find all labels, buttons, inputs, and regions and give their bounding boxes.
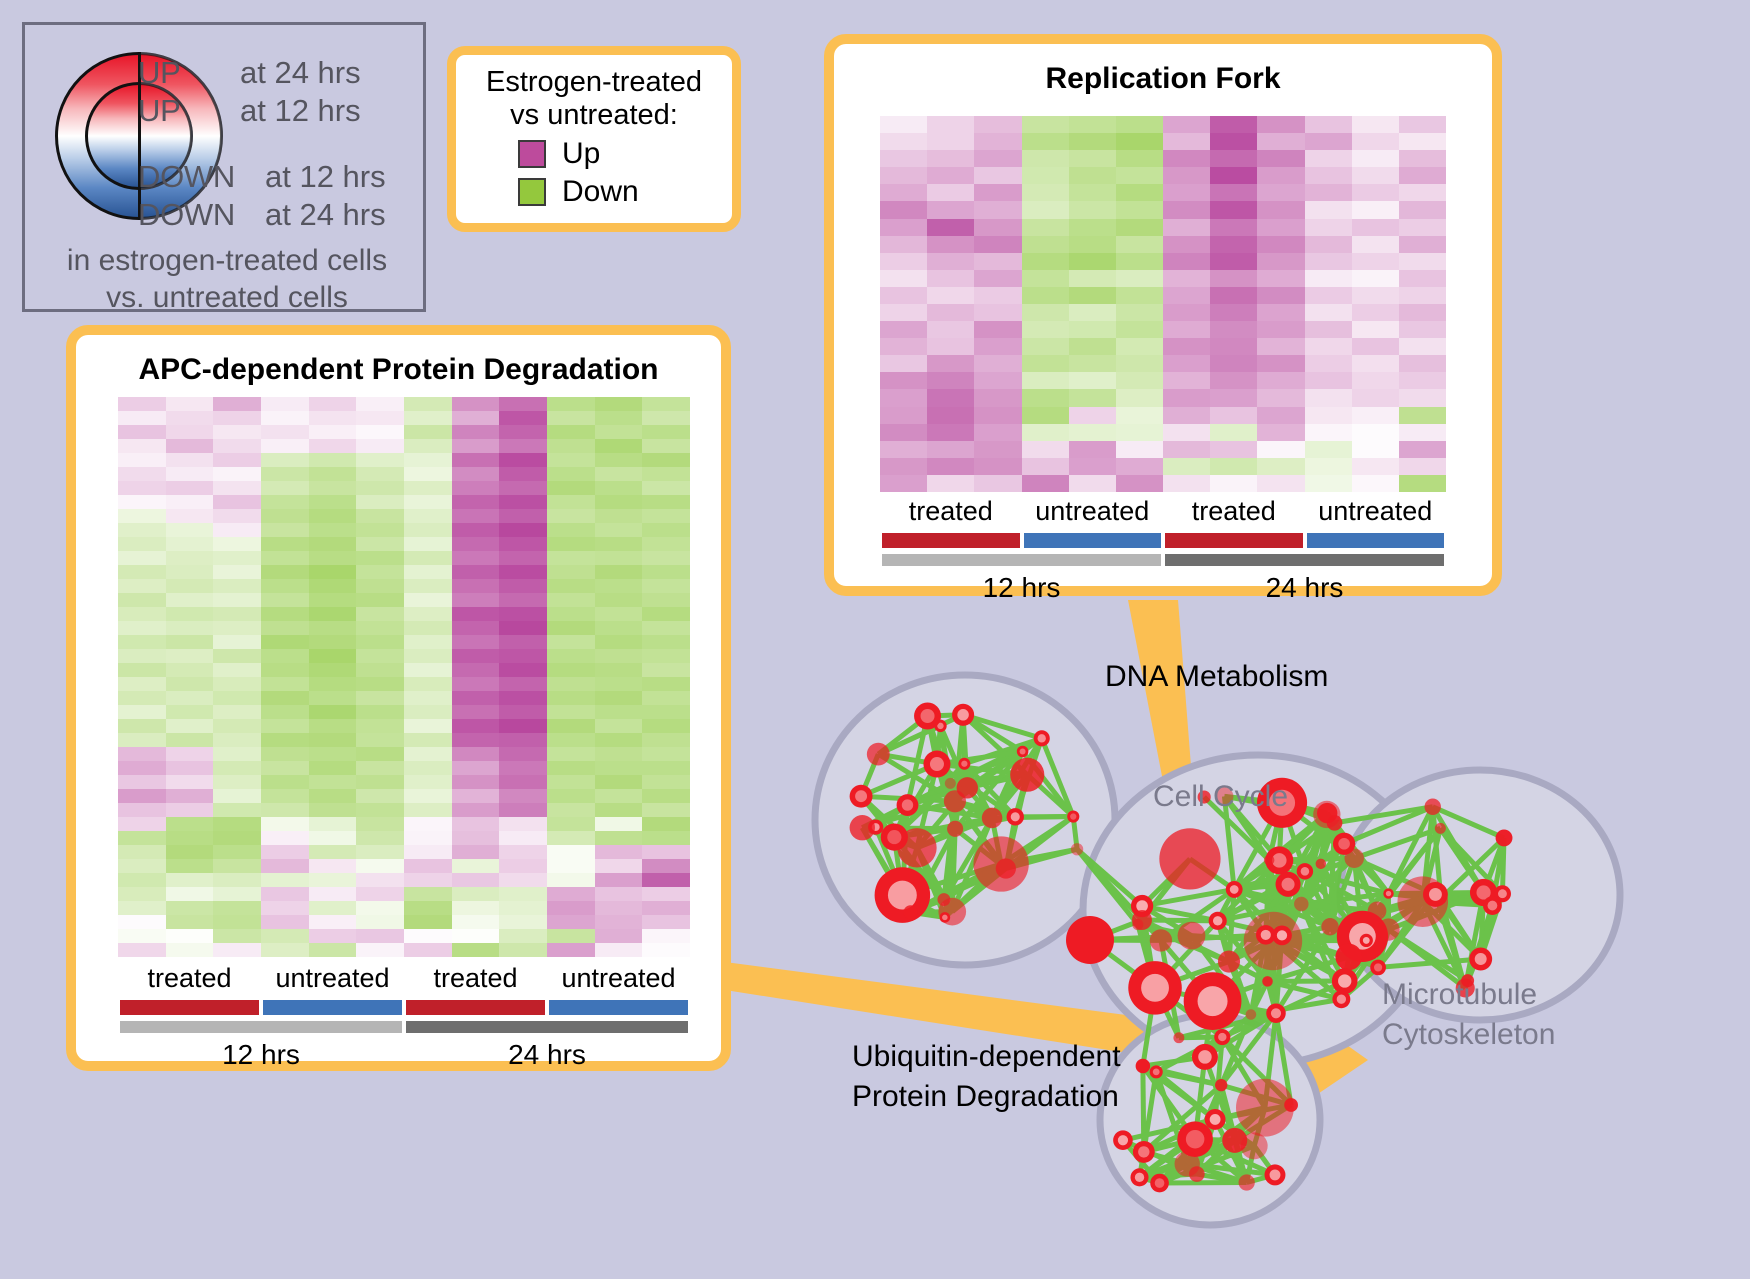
heatmap-cell [452, 733, 500, 747]
heatmap-cell [595, 691, 643, 705]
time-label: 24 hrs [1266, 572, 1344, 604]
heatmap-cell [356, 873, 404, 887]
heatmap-cell [1352, 321, 1399, 338]
heatmap-cell [927, 219, 974, 236]
network-node-core [1198, 1050, 1212, 1064]
heatmap-cell [166, 453, 214, 467]
heatmap-cell [1069, 133, 1116, 150]
heatmap-cell [499, 607, 547, 621]
heatmap-cell [1210, 458, 1257, 475]
heatmap-cell [547, 817, 595, 831]
heatmap-cell [1163, 441, 1210, 458]
heatmap-cell [213, 719, 261, 733]
heatmap-cell [118, 901, 166, 915]
heatmap-cell [213, 537, 261, 551]
heatmap-cell [213, 845, 261, 859]
heatmap-cell [309, 859, 357, 873]
network-node-core [921, 709, 935, 723]
heatmap-cell [404, 915, 452, 929]
heatmap-cell [404, 789, 452, 803]
heatmap-cell [356, 803, 404, 817]
heatmap-cell [261, 523, 309, 537]
network-node[interactable] [1317, 803, 1337, 823]
heatmap-cell [118, 873, 166, 887]
group-color-bar [263, 1000, 402, 1015]
network-node[interactable] [947, 821, 963, 837]
heatmap-cell [642, 565, 690, 579]
heatmap-cell [452, 509, 500, 523]
heatmap-cell [880, 407, 927, 424]
heatmap-cell [261, 943, 309, 957]
heatmap-cell [642, 663, 690, 677]
heatmap-cell [642, 719, 690, 733]
heatmap-cell [1305, 458, 1352, 475]
heatmap-cell [261, 411, 309, 425]
heatmap-cell [213, 873, 261, 887]
group-label: untreated [275, 963, 389, 994]
heatmap-cell [880, 270, 927, 287]
heatmap-cell [595, 705, 643, 719]
heatmap-cell [595, 467, 643, 481]
heatmap-cell [927, 441, 974, 458]
heatmap-cell [261, 537, 309, 551]
group-label: untreated [1318, 496, 1432, 527]
heatmap-cell [118, 495, 166, 509]
heatmap-cell [1305, 389, 1352, 406]
network-node[interactable] [982, 808, 1003, 829]
heatmap-cell [356, 719, 404, 733]
heatmap-cell [1210, 441, 1257, 458]
network-node[interactable] [904, 905, 918, 919]
network-node-core [1429, 888, 1442, 901]
heatmap-cell [974, 407, 1021, 424]
heatmap-cell [974, 201, 1021, 218]
heatmap-cell [499, 873, 547, 887]
heatmap-cell [452, 775, 500, 789]
heatmap-cell [499, 565, 547, 579]
heatmap-cell [118, 425, 166, 439]
heatmap-cell [880, 304, 927, 321]
network-node[interactable] [1239, 1174, 1255, 1190]
heatmap-cell [118, 551, 166, 565]
network-node[interactable] [1368, 902, 1387, 921]
heatmap-cell [1022, 475, 1069, 492]
heatmap-cell [452, 551, 500, 565]
heatmap-cell [1163, 184, 1210, 201]
network-node[interactable] [1222, 1128, 1247, 1153]
heatmap-cell [309, 915, 357, 929]
heatmap-cell [452, 537, 500, 551]
network-node-core [1488, 901, 1498, 911]
heatmap-cell [213, 425, 261, 439]
heatmap-cell [404, 873, 452, 887]
heatmap-cell [309, 677, 357, 691]
heatmap-cell [118, 453, 166, 467]
heatmap-cell [309, 775, 357, 789]
heatmap-cell [1305, 116, 1352, 133]
heatmap-cell [1352, 150, 1399, 167]
heatmap-cell [880, 219, 927, 236]
network-node[interactable] [1218, 950, 1240, 972]
heatmap-cell [880, 441, 927, 458]
heatmap-cell [499, 705, 547, 719]
heatmap-cell [595, 453, 643, 467]
heatmap-cell [452, 761, 500, 775]
heatmap-cell [1352, 201, 1399, 218]
heatmap-cell [213, 901, 261, 915]
heatmap-cell [356, 495, 404, 509]
network-node[interactable] [1071, 843, 1083, 855]
heatmap-cell [356, 593, 404, 607]
heatmap-cell [499, 789, 547, 803]
heatmap-cell [1210, 304, 1257, 321]
network-node-core [961, 761, 967, 767]
heatmap-cell [499, 719, 547, 733]
heatmap-cell [499, 649, 547, 663]
network-node[interactable] [945, 778, 956, 789]
network-node-core [1020, 749, 1026, 755]
network-node-core [1070, 813, 1076, 819]
heatmap-cell [309, 719, 357, 733]
network-node[interactable] [1264, 855, 1275, 866]
heatmap-cell [595, 439, 643, 453]
network-node-core [1213, 916, 1222, 925]
heatmap-cell [404, 467, 452, 481]
heatmap-cell [1399, 253, 1446, 270]
heatmap-cell [1352, 424, 1399, 441]
heatmap-cell [1022, 458, 1069, 475]
heatmap-cell [452, 663, 500, 677]
group-color-bar [1307, 533, 1445, 548]
heatmap-cell [309, 425, 357, 439]
heatmap-cell [974, 236, 1021, 253]
heatmap-cell [547, 677, 595, 691]
heatmap-cell [404, 607, 452, 621]
network-node[interactable] [1321, 918, 1338, 935]
network-node[interactable] [1284, 1098, 1298, 1112]
heatmap-cell [1022, 424, 1069, 441]
heatmap-cell [261, 551, 309, 565]
heatmap-cell [974, 389, 1021, 406]
heatmap-cell [1210, 407, 1257, 424]
heatmap-cell [499, 621, 547, 635]
heatmap-cell [1022, 304, 1069, 321]
network-node-core [1277, 930, 1287, 940]
heatmap-cell [595, 607, 643, 621]
heatmap-cell [261, 397, 309, 411]
heatmap-cell [452, 677, 500, 691]
network-node[interactable] [944, 790, 966, 812]
heatmap-cell [974, 287, 1021, 304]
heatmap-cell [118, 523, 166, 537]
heatmap-cell [642, 775, 690, 789]
heatmap-cell [213, 411, 261, 425]
heatmap-cell [356, 439, 404, 453]
heatmap-cell [974, 355, 1021, 372]
network-node[interactable] [1316, 859, 1326, 869]
heatmap-cell [309, 439, 357, 453]
heatmap-cell [166, 705, 214, 719]
heatmap-cell [880, 167, 927, 184]
heatmap-cell [1257, 372, 1304, 389]
heatmap-cell [261, 705, 309, 719]
heatmap-cell [356, 817, 404, 831]
heatmap-cell [309, 453, 357, 467]
network-node[interactable] [1262, 976, 1273, 987]
heatmap-cell [595, 551, 643, 565]
network-node-core [1186, 1130, 1205, 1149]
heatmap-cell [452, 523, 500, 537]
heatmap-cell [1163, 116, 1210, 133]
heatmap-cell [1399, 270, 1446, 287]
network-node[interactable] [1294, 897, 1308, 911]
heatmap-cell [309, 817, 357, 831]
heatmap-cell [974, 219, 1021, 236]
heatmap-cell [642, 887, 690, 901]
heatmap-cell [1116, 441, 1163, 458]
heatmap-cell [1399, 150, 1446, 167]
network-node[interactable] [1246, 1009, 1257, 1020]
network-node[interactable] [850, 815, 875, 840]
network-node[interactable] [1496, 829, 1513, 846]
heatmap-cell [452, 817, 500, 831]
heatmap-cell [1257, 389, 1304, 406]
time-label: 12 hrs [222, 1039, 300, 1071]
heatmap-cell [404, 411, 452, 425]
network-node[interactable] [996, 858, 1016, 878]
network-node[interactable] [867, 743, 890, 766]
heatmap-cell [547, 453, 595, 467]
heatmap-cell [452, 705, 500, 719]
heatmap-cell [642, 733, 690, 747]
network-node[interactable] [1150, 929, 1172, 951]
heatmap-cell [642, 551, 690, 565]
heatmap-cell [974, 133, 1021, 150]
network-node-core [957, 709, 968, 720]
network-node[interactable] [1178, 922, 1206, 950]
heatmap-cell [1163, 304, 1210, 321]
heatmap-cell [927, 475, 974, 492]
heatmap-cell [499, 509, 547, 523]
network-node[interactable] [1010, 758, 1044, 792]
network-node[interactable] [1377, 918, 1399, 940]
heatmap-cell [309, 663, 357, 677]
heatmap-cell [213, 663, 261, 677]
heatmap-cell [927, 321, 974, 338]
heatmap-cell [261, 803, 309, 817]
heatmap-cell [1116, 338, 1163, 355]
heatmap-cell [1305, 338, 1352, 355]
heatmap-cell [118, 831, 166, 845]
heatmap-cell [642, 481, 690, 495]
heatmap-cell [213, 747, 261, 761]
network-node-core [1282, 878, 1295, 891]
heatmap-cell [1022, 441, 1069, 458]
group-labels-apc: treateduntreatedtreateduntreated [118, 963, 690, 997]
network-node[interactable] [1189, 1166, 1205, 1182]
heatmap-cell [547, 411, 595, 425]
network-node-core [1118, 1135, 1128, 1145]
heatmap-cell [356, 901, 404, 915]
heatmap-cell [452, 901, 500, 915]
heatmap-cell [1352, 475, 1399, 492]
network-node[interactable] [1435, 823, 1446, 834]
heatmap-cell [974, 441, 1021, 458]
heatmap-cell [261, 817, 309, 831]
heatmap-cell [595, 509, 643, 523]
heatmap-cell [499, 803, 547, 817]
heatmap-cell [974, 253, 1021, 270]
heatmap-cell [356, 761, 404, 775]
heatmap-cell [1116, 424, 1163, 441]
heatmap-cell [499, 467, 547, 481]
time-labels-apc: 12 hrs24 hrs [118, 1039, 690, 1075]
heatmap-cell [547, 509, 595, 523]
heatmap-cell [213, 439, 261, 453]
heatmap-cell [1116, 270, 1163, 287]
heatmap-cell [118, 775, 166, 789]
heatmap-cell [309, 649, 357, 663]
heatmap-cell [261, 663, 309, 677]
heatmap-cell [642, 705, 690, 719]
heatmap-cell [499, 901, 547, 915]
heatmap-cell [547, 565, 595, 579]
time-bars-apc [118, 1021, 690, 1033]
heatmap-cell [404, 509, 452, 523]
heatmap-cell [404, 901, 452, 915]
heatmap-cell [1305, 407, 1352, 424]
heatmap-cell [166, 761, 214, 775]
heatmap-cell [595, 761, 643, 775]
heatmap-cell [166, 621, 214, 635]
heatmap-cell [547, 747, 595, 761]
heatmap-cell [499, 859, 547, 873]
heatmap-cell [595, 747, 643, 761]
heatmap-cell [213, 509, 261, 523]
heatmap-cell [166, 803, 214, 817]
heatmap-cell [166, 551, 214, 565]
heatmap-cell [1305, 287, 1352, 304]
heatmap-cell [1116, 287, 1163, 304]
heatmap-cell [404, 887, 452, 901]
network-node[interactable] [1066, 916, 1114, 964]
network-node-core [1141, 974, 1169, 1002]
heatmap-cell [356, 467, 404, 481]
heatmap-cell [927, 389, 974, 406]
heatmap-cell [1352, 116, 1399, 133]
heatmap-cell [499, 537, 547, 551]
heatmap-cell [309, 607, 357, 621]
heatmap-cell [356, 509, 404, 523]
network-node[interactable] [1159, 828, 1220, 889]
heatmap-cell [880, 424, 927, 441]
network-node-core [888, 881, 917, 910]
heatmap-cell [642, 495, 690, 509]
heatmap-cell [213, 859, 261, 873]
heatmap-cell [166, 439, 214, 453]
heatmap-cell [547, 495, 595, 509]
heatmap-cell [261, 565, 309, 579]
heatmap-cell [213, 705, 261, 719]
heatmap-cell [118, 915, 166, 929]
network-node[interactable] [1136, 1059, 1151, 1074]
heatmap-cell [1352, 219, 1399, 236]
heatmap-cell [118, 733, 166, 747]
heatmap-cell [452, 565, 500, 579]
heatmap-cell [404, 845, 452, 859]
heatmap-cell [213, 803, 261, 817]
network-node-core [1270, 1169, 1281, 1180]
heatmap-cell [213, 817, 261, 831]
heatmap-cell [166, 579, 214, 593]
heatmap-cell [880, 253, 927, 270]
cluster-label-cell-cycle: Cell Cycle [1153, 780, 1288, 814]
heatmap-cell [1257, 407, 1304, 424]
heatmap-cell [118, 887, 166, 901]
heatmap-cell [118, 691, 166, 705]
heatmap-cell [1116, 167, 1163, 184]
heatmap-cell [213, 943, 261, 957]
network-node[interactable] [1335, 944, 1362, 971]
heatmap-cell [642, 607, 690, 621]
panel-title-replication-fork: Replication Fork [834, 62, 1492, 96]
heatmap-cell [927, 253, 974, 270]
heatmap-cell [213, 481, 261, 495]
network-node[interactable] [1215, 1079, 1227, 1091]
network-node[interactable] [1425, 799, 1441, 815]
heatmap-cell [356, 537, 404, 551]
heatmap-cell [974, 116, 1021, 133]
heatmap-cell [642, 901, 690, 915]
network-node[interactable] [1132, 910, 1152, 930]
heatmap-cell [1257, 475, 1304, 492]
heatmap-cell [1069, 270, 1116, 287]
heatmap-cell [1305, 304, 1352, 321]
heatmap-cell [642, 621, 690, 635]
heatmap-cell [927, 270, 974, 287]
heatmap-cell [1257, 304, 1304, 321]
heatmap-cell [309, 495, 357, 509]
network-node[interactable] [937, 893, 950, 906]
heatmap-cell [404, 551, 452, 565]
heatmap-cell [499, 593, 547, 607]
heatmap-cell [1069, 304, 1116, 321]
heatmap-cell [547, 803, 595, 817]
heatmap-cell [880, 150, 927, 167]
heatmap-cell [309, 887, 357, 901]
heatmap-cell [1305, 270, 1352, 287]
heatmap-cell [547, 649, 595, 663]
heatmap-cell [356, 663, 404, 677]
network-node[interactable] [1173, 1032, 1184, 1043]
heatmap-cell [309, 901, 357, 915]
heatmap-cell [1116, 184, 1163, 201]
heatmap-cell [547, 873, 595, 887]
group-color-bar [1165, 533, 1303, 548]
cluster-label-cytoskeleton: Cytoskeleton [1382, 1018, 1555, 1052]
heatmap-cell [356, 677, 404, 691]
heatmap-cell [1352, 441, 1399, 458]
heatmap-cell [595, 929, 643, 943]
heatmap-cell [547, 551, 595, 565]
heatmap-cell [356, 635, 404, 649]
heatmap-cell [1163, 133, 1210, 150]
heatmap-cell [642, 873, 690, 887]
network-node-core [1198, 986, 1228, 1016]
heatmap-cell [118, 761, 166, 775]
network-edge [992, 817, 1073, 818]
heatmap-cell [1257, 424, 1304, 441]
